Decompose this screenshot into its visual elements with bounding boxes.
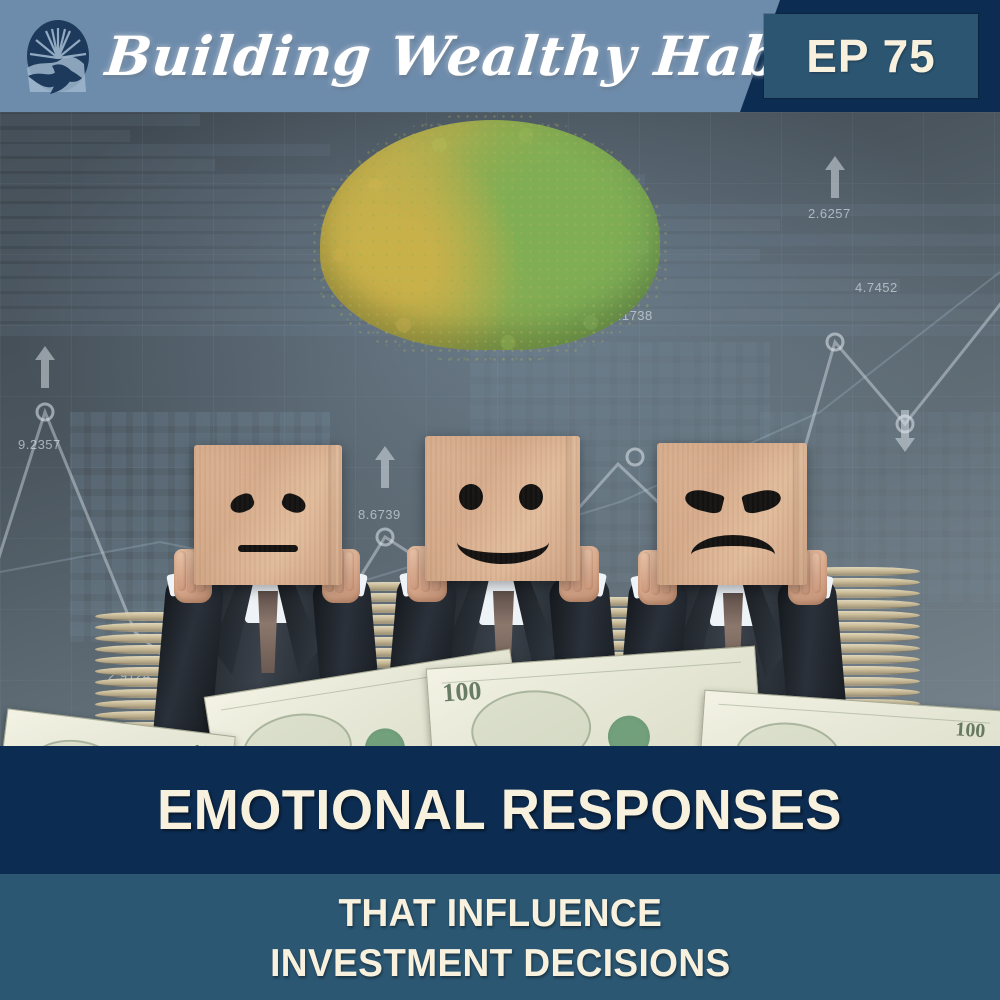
sunburst-road-logo-icon bbox=[22, 16, 94, 96]
face-box-right bbox=[657, 443, 807, 585]
chart-annotation: 2.6257 bbox=[808, 206, 851, 221]
episode-badge[interactable]: EP 75 bbox=[764, 14, 978, 98]
podcast-cover: 9.2357 2.9124 8.6739 0.1738 2.6257 4.745… bbox=[0, 0, 1000, 1000]
page-title: EMOTIONAL RESPONSES bbox=[157, 777, 842, 843]
subtitle-bar: THAT INFLUENCE INVESTMENT DECISIONS bbox=[0, 874, 1000, 1000]
subtitle-line-2: INVESTMENT DECISIONS bbox=[270, 940, 730, 988]
brand-title: Building Wealthy Habits bbox=[103, 24, 861, 88]
artwork-photo: 9.2357 2.9124 8.6739 0.1738 2.6257 4.745… bbox=[0, 112, 1000, 746]
face-box-center bbox=[425, 436, 580, 581]
face-box-left bbox=[194, 445, 342, 585]
chart-annotation: 9.2357 bbox=[18, 437, 61, 452]
episode-badge-label: EP 75 bbox=[806, 29, 935, 83]
title-bar: EMOTIONAL RESPONSES bbox=[0, 746, 1000, 874]
chart-annotation: 4.7452 bbox=[855, 280, 898, 295]
header-bar: Building Wealthy Habits EP 75 bbox=[0, 0, 1000, 112]
subtitle-line-1: THAT INFLUENCE bbox=[338, 890, 662, 938]
brand-lockup[interactable]: Building Wealthy Habits bbox=[22, 14, 858, 98]
